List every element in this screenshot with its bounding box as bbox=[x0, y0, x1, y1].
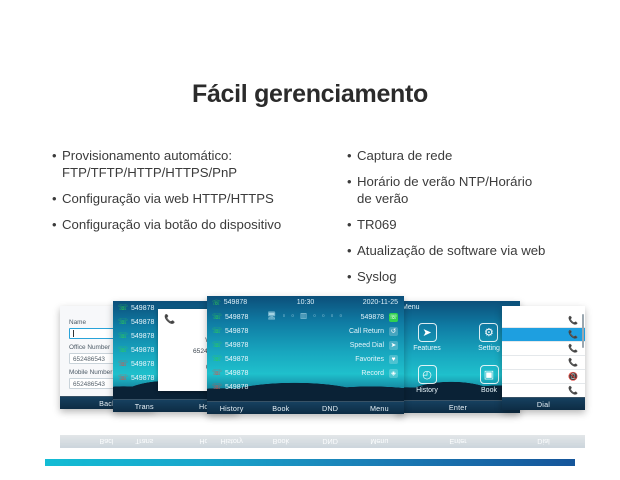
line-key[interactable]: ☏549878 bbox=[113, 343, 154, 357]
forwarded-call-icon: 📞 bbox=[568, 386, 578, 395]
handset-up-icon: ☏ bbox=[389, 313, 398, 322]
bullet-icon: • bbox=[52, 216, 62, 233]
reflection-softkey: Trans bbox=[113, 437, 176, 446]
table-row[interactable]: 📞 bbox=[502, 328, 585, 342]
bullet-icon: • bbox=[347, 173, 357, 190]
line-key-label: 549878 bbox=[131, 333, 154, 340]
missed-call-icon: 📵 bbox=[568, 372, 578, 381]
reflection-softkey: Book bbox=[256, 437, 305, 446]
line-key-label: 549878 bbox=[131, 347, 154, 354]
line-key[interactable]: ☏549878 bbox=[207, 310, 248, 324]
incoming-call-icon: 📞 bbox=[568, 316, 578, 325]
menu-item-label: Book bbox=[480, 387, 499, 394]
dss-key-label: Speed Dial bbox=[350, 342, 384, 349]
softkey-bar: History Book DND Menu bbox=[207, 401, 404, 414]
menu-item-history[interactable]: ◴ History bbox=[416, 365, 438, 394]
table-row[interactable]: 📞 bbox=[502, 356, 585, 370]
list-item-label: Provisionamento automático: FTP/TFTP/HTT… bbox=[62, 147, 342, 181]
phone-screen-home: ☏ 549878 10:30 2020-11-25 🖥 ▫ ▫ ▥ ▫ ▫ ▫ … bbox=[207, 296, 404, 414]
menu-item-book[interactable]: ▣ Book bbox=[480, 365, 499, 394]
text-caret bbox=[73, 330, 74, 337]
line-key[interactable]: ☏549878 bbox=[113, 301, 154, 315]
speed-dial-icon: ➤ bbox=[389, 341, 398, 350]
handset-down-icon: ☏ bbox=[212, 383, 222, 391]
menu-item-label: History bbox=[416, 387, 438, 394]
menu-item-features[interactable]: ➤ Features bbox=[413, 323, 441, 352]
dss-key[interactable]: Call Return↺ bbox=[318, 324, 404, 338]
list-item-label: TR069 bbox=[357, 216, 597, 233]
line-key[interactable]: ☏549878 bbox=[207, 352, 248, 366]
dss-key[interactable]: Favorites♥ bbox=[318, 352, 404, 366]
dss-key-label: Call Return bbox=[349, 328, 384, 335]
reflection-softkey: History bbox=[207, 437, 256, 446]
line-key[interactable]: ☏549878 bbox=[113, 371, 154, 385]
record-icon: ◈ bbox=[389, 369, 398, 378]
reflection-softkey: DND bbox=[306, 437, 355, 446]
line-key[interactable]: ☏549878 bbox=[113, 357, 154, 371]
table-row[interactable]: 📞 bbox=[502, 342, 585, 356]
handset-up-icon: ☏ bbox=[212, 327, 222, 335]
softkey-dnd[interactable]: DND bbox=[306, 404, 355, 413]
list-item: • Syslog bbox=[347, 268, 597, 285]
list-item-label: Captura de rede bbox=[357, 147, 597, 164]
gear-icon: ⚙ bbox=[479, 323, 498, 342]
scrollbar[interactable] bbox=[582, 314, 584, 348]
menu-header: Menu bbox=[402, 304, 420, 311]
reflection-softbar: History Book DND Menu bbox=[207, 435, 404, 448]
line-key-label: 549878 bbox=[225, 370, 248, 377]
softkey-dial[interactable]: Dial bbox=[502, 400, 585, 409]
return-arrow-icon: ↺ bbox=[389, 327, 398, 336]
reflection-softkey: Dial bbox=[502, 437, 585, 446]
list-item-label: Horário de verão NTP/Horário de verão bbox=[357, 173, 597, 207]
bullet-icon: • bbox=[347, 242, 357, 259]
menu-item-label: Features bbox=[413, 345, 441, 352]
softkey-menu[interactable]: Menu bbox=[355, 404, 404, 413]
list-item: • Atualização de software via web bbox=[347, 242, 597, 259]
handset-up-icon: ☏ bbox=[212, 355, 222, 363]
dss-key[interactable]: Record◈ bbox=[318, 366, 404, 380]
features-icon: ➤ bbox=[418, 323, 437, 342]
dss-key-column: 549878☏ Call Return↺ Speed Dial➤ Favorit… bbox=[318, 310, 404, 401]
line-key-label: 549878 bbox=[131, 319, 154, 326]
handset-up-icon: ☏ bbox=[118, 304, 128, 312]
list-item-label: Configuração via botão do dispositivo bbox=[62, 216, 342, 233]
list-item: • Captura de rede bbox=[347, 147, 597, 164]
call-history-list: 📞 📞 📞 📞 📵 📞 bbox=[502, 314, 585, 397]
bullet-icon: • bbox=[347, 216, 357, 233]
bullet-icon: • bbox=[52, 147, 62, 164]
handset-down-icon: ☏ bbox=[118, 374, 128, 382]
list-item: • Configuração via botão do dispositivo bbox=[52, 216, 342, 233]
outgoing-call-icon: 📞 bbox=[568, 358, 578, 367]
status-bar: ☏ 549878 10:30 2020-11-25 bbox=[207, 296, 404, 309]
list-item-label: Configuração via web HTTP/HTTPS bbox=[62, 190, 342, 207]
line-key-column: ☏549878 ☏549878 ☏549878 ☏549878 ☏549878 … bbox=[113, 301, 154, 399]
softkey-trans[interactable]: Trans bbox=[113, 402, 176, 411]
handset-down-icon: ☏ bbox=[118, 360, 128, 368]
dss-key[interactable]: Speed Dial➤ bbox=[318, 338, 404, 352]
line-key-label: 549878 bbox=[131, 305, 154, 312]
handset-up-icon: ☏ bbox=[212, 313, 222, 321]
softkey-bar: Dial bbox=[502, 397, 585, 410]
outgoing-call-icon: 📞 bbox=[568, 344, 578, 353]
line-key-label: 549878 bbox=[131, 361, 154, 368]
line-key[interactable]: ☏549878 bbox=[207, 324, 248, 338]
heart-icon: ♥ bbox=[389, 355, 398, 364]
softkey-history[interactable]: History bbox=[207, 404, 256, 413]
line-key-label: 549878 bbox=[225, 314, 248, 321]
line-key-label: 549878 bbox=[225, 328, 248, 335]
line-key-label: 549878 bbox=[131, 375, 154, 382]
history-icon: ◴ bbox=[418, 365, 437, 384]
bullet-icon: • bbox=[52, 190, 62, 207]
status-time: 10:30 bbox=[207, 299, 404, 306]
phone-icon: 📞 bbox=[164, 314, 175, 325]
line-key[interactable]: ☏549878 bbox=[207, 338, 248, 352]
menu-item-label: Setting bbox=[478, 345, 500, 352]
handset-up-icon: ☏ bbox=[118, 332, 128, 340]
dss-key[interactable]: 549878☏ bbox=[318, 310, 404, 324]
line-key[interactable]: ☏549878 bbox=[113, 329, 154, 343]
line-key-label: 549878 bbox=[225, 384, 248, 391]
feature-list-right: • Captura de rede • Horário de verão NTP… bbox=[347, 147, 597, 294]
list-item-label: Atualização de software via web bbox=[357, 242, 597, 259]
feature-list-left: • Provisionamento automático: FTP/TFTP/H… bbox=[52, 147, 342, 242]
softkey-book[interactable]: Book bbox=[256, 404, 305, 413]
table-row[interactable]: 📞 bbox=[502, 384, 585, 398]
montage-reflection: Back Trans Hold History Book DND Menu En… bbox=[0, 420, 620, 448]
dss-key-label: 549878 bbox=[361, 314, 384, 321]
list-item: • Configuração via web HTTP/HTTPS bbox=[52, 190, 342, 207]
handset-up-icon: ☏ bbox=[118, 346, 128, 354]
list-item: • Horário de verão NTP/Horário de verão bbox=[347, 173, 597, 207]
list-item-label: Syslog bbox=[357, 268, 597, 285]
phone-screen-call-history: 📞 📞 📞 📞 📵 📞 Dial bbox=[502, 306, 585, 410]
dss-key-label: Favorites bbox=[355, 356, 384, 363]
bullet-icon: • bbox=[347, 268, 357, 285]
table-row[interactable]: 📞 bbox=[502, 314, 585, 328]
line-key-label: 549878 bbox=[225, 342, 248, 349]
line-key[interactable]: ☏549878 bbox=[113, 315, 154, 329]
menu-item-setting[interactable]: ⚙ Setting bbox=[478, 323, 500, 352]
bullet-icon: • bbox=[347, 147, 357, 164]
line-key-column: ☏549878 ☏549878 ☏549878 ☏549878 ☏549878 … bbox=[207, 310, 248, 401]
table-row[interactable]: 📵 bbox=[502, 370, 585, 384]
list-item: • TR069 bbox=[347, 216, 597, 233]
line-key[interactable]: ☏549878 bbox=[207, 380, 248, 394]
handset-up-icon: ☏ bbox=[212, 341, 222, 349]
incoming-call-icon: 📞 bbox=[568, 330, 578, 339]
handset-down-icon: ☏ bbox=[212, 369, 222, 377]
reflection-softbar: Dial bbox=[502, 435, 585, 448]
list-item: • Provisionamento automático: FTP/TFTP/H… bbox=[52, 147, 342, 181]
contacts-icon: ▣ bbox=[480, 365, 499, 384]
accent-bar bbox=[45, 459, 575, 466]
dss-key-label: Record bbox=[361, 370, 384, 377]
line-key[interactable]: ☏549878 bbox=[207, 366, 248, 380]
page-title: Fácil gerenciamento bbox=[0, 80, 620, 109]
handset-up-icon: ☏ bbox=[118, 318, 128, 326]
line-key-label: 549878 bbox=[225, 356, 248, 363]
slide-root: Fácil gerenciamento • Provisionamento au… bbox=[0, 0, 620, 480]
